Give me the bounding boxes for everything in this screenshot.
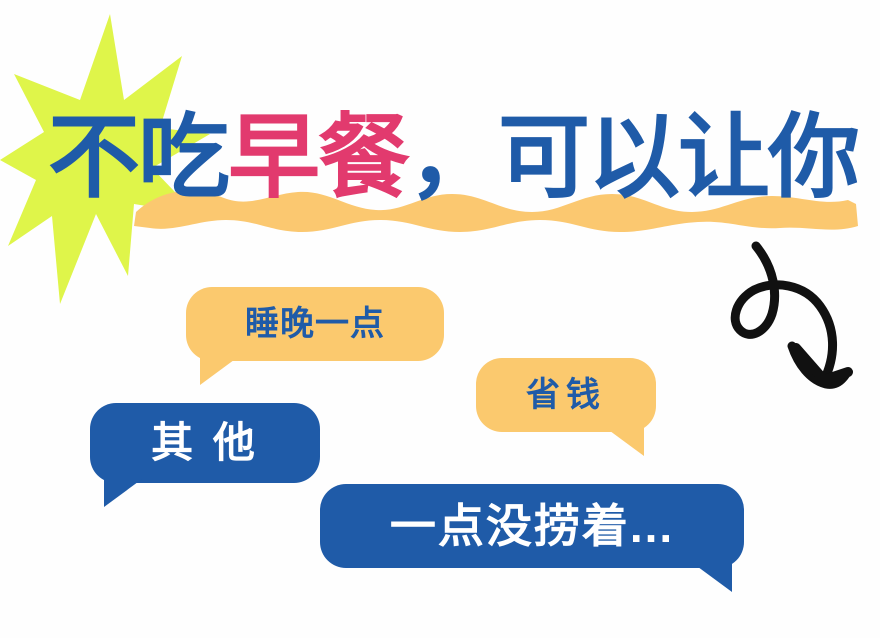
speech-bubble-nothing-gained[interactable]: 一点没捞着... <box>320 484 744 568</box>
bubble-tail-icon <box>606 428 644 456</box>
bubble-tail-icon <box>104 479 142 507</box>
poster-canvas: 不吃早餐，可以让你 睡晚一点 省钱 其 他 一点没捞着... <box>0 0 880 638</box>
speech-bubble-save-money[interactable]: 省钱 <box>476 358 656 432</box>
headline-part-3: ，可以让你 <box>408 107 858 209</box>
bubble-tail-icon <box>200 357 238 385</box>
page-title: 不吃早餐，可以让你 <box>48 112 868 216</box>
speech-bubble-other-label: 其 他 <box>151 422 259 464</box>
speech-bubble-save-money-label: 省钱 <box>526 378 606 412</box>
speech-bubble-sleep-label: 睡晚一点 <box>245 307 385 341</box>
headline-part-2: 早餐 <box>228 107 408 209</box>
bubble-tail-icon <box>694 564 732 592</box>
speech-bubble-other[interactable]: 其 他 <box>90 403 320 483</box>
curly-arrow-icon <box>712 228 862 408</box>
speech-bubble-sleep[interactable]: 睡晚一点 <box>186 287 444 361</box>
headline-part-1: 不吃 <box>48 107 228 209</box>
speech-bubble-nothing-gained-label: 一点没捞着... <box>390 503 674 549</box>
